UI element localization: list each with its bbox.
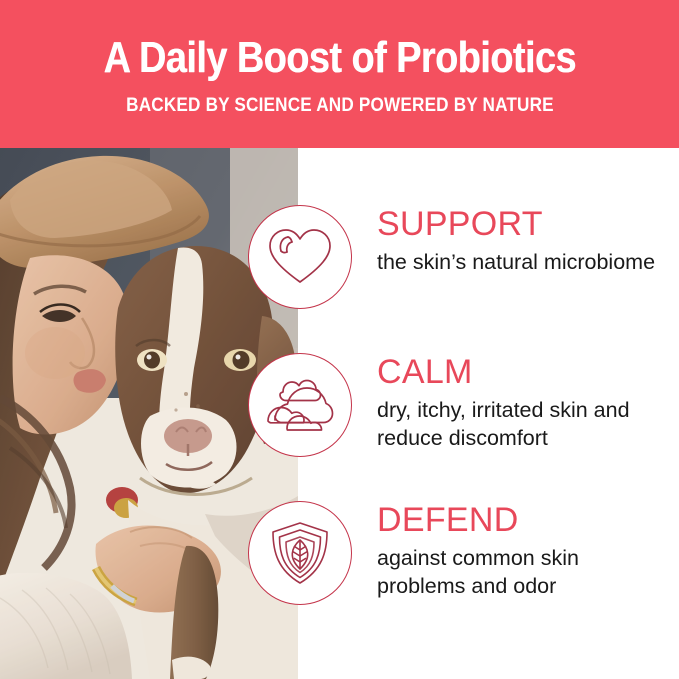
clouds-icon: [248, 353, 352, 457]
feature-text-support: SUPPORT the skin’s natural microbiome: [377, 205, 655, 276]
shield-leaf-icon: [248, 501, 352, 605]
feature-item-calm: CALM dry, itchy, irritated skin and redu…: [248, 353, 668, 493]
feature-heading-support: SUPPORT: [377, 207, 655, 243]
page-title: A Daily Boost of Probiotics: [103, 36, 575, 80]
feature-item-defend: DEFEND against common skin problems and …: [248, 501, 668, 641]
header-banner: A Daily Boost of Probiotics BACKED BY SC…: [0, 0, 679, 148]
feature-item-support: SUPPORT the skin’s natural microbiome: [248, 205, 668, 345]
feature-heading-calm: CALM: [377, 355, 668, 391]
feature-text-calm: CALM dry, itchy, irritated skin and redu…: [377, 353, 668, 452]
heart-icon: [248, 205, 352, 309]
probiotics-infographic: A Daily Boost of Probiotics BACKED BY SC…: [0, 0, 679, 679]
feature-list: SUPPORT the skin’s natural microbiome: [0, 148, 679, 679]
feature-body-defend: against common skin problems and odor: [377, 544, 668, 601]
page-subtitle: BACKED BY SCIENCE AND POWERED BY NATURE: [126, 96, 554, 116]
feature-heading-defend: DEFEND: [377, 503, 668, 539]
feature-body-support: the skin’s natural microbiome: [377, 248, 655, 276]
feature-body-calm: dry, itchy, irritated skin and reduce di…: [377, 396, 668, 453]
feature-text-defend: DEFEND against common skin problems and …: [377, 501, 668, 600]
